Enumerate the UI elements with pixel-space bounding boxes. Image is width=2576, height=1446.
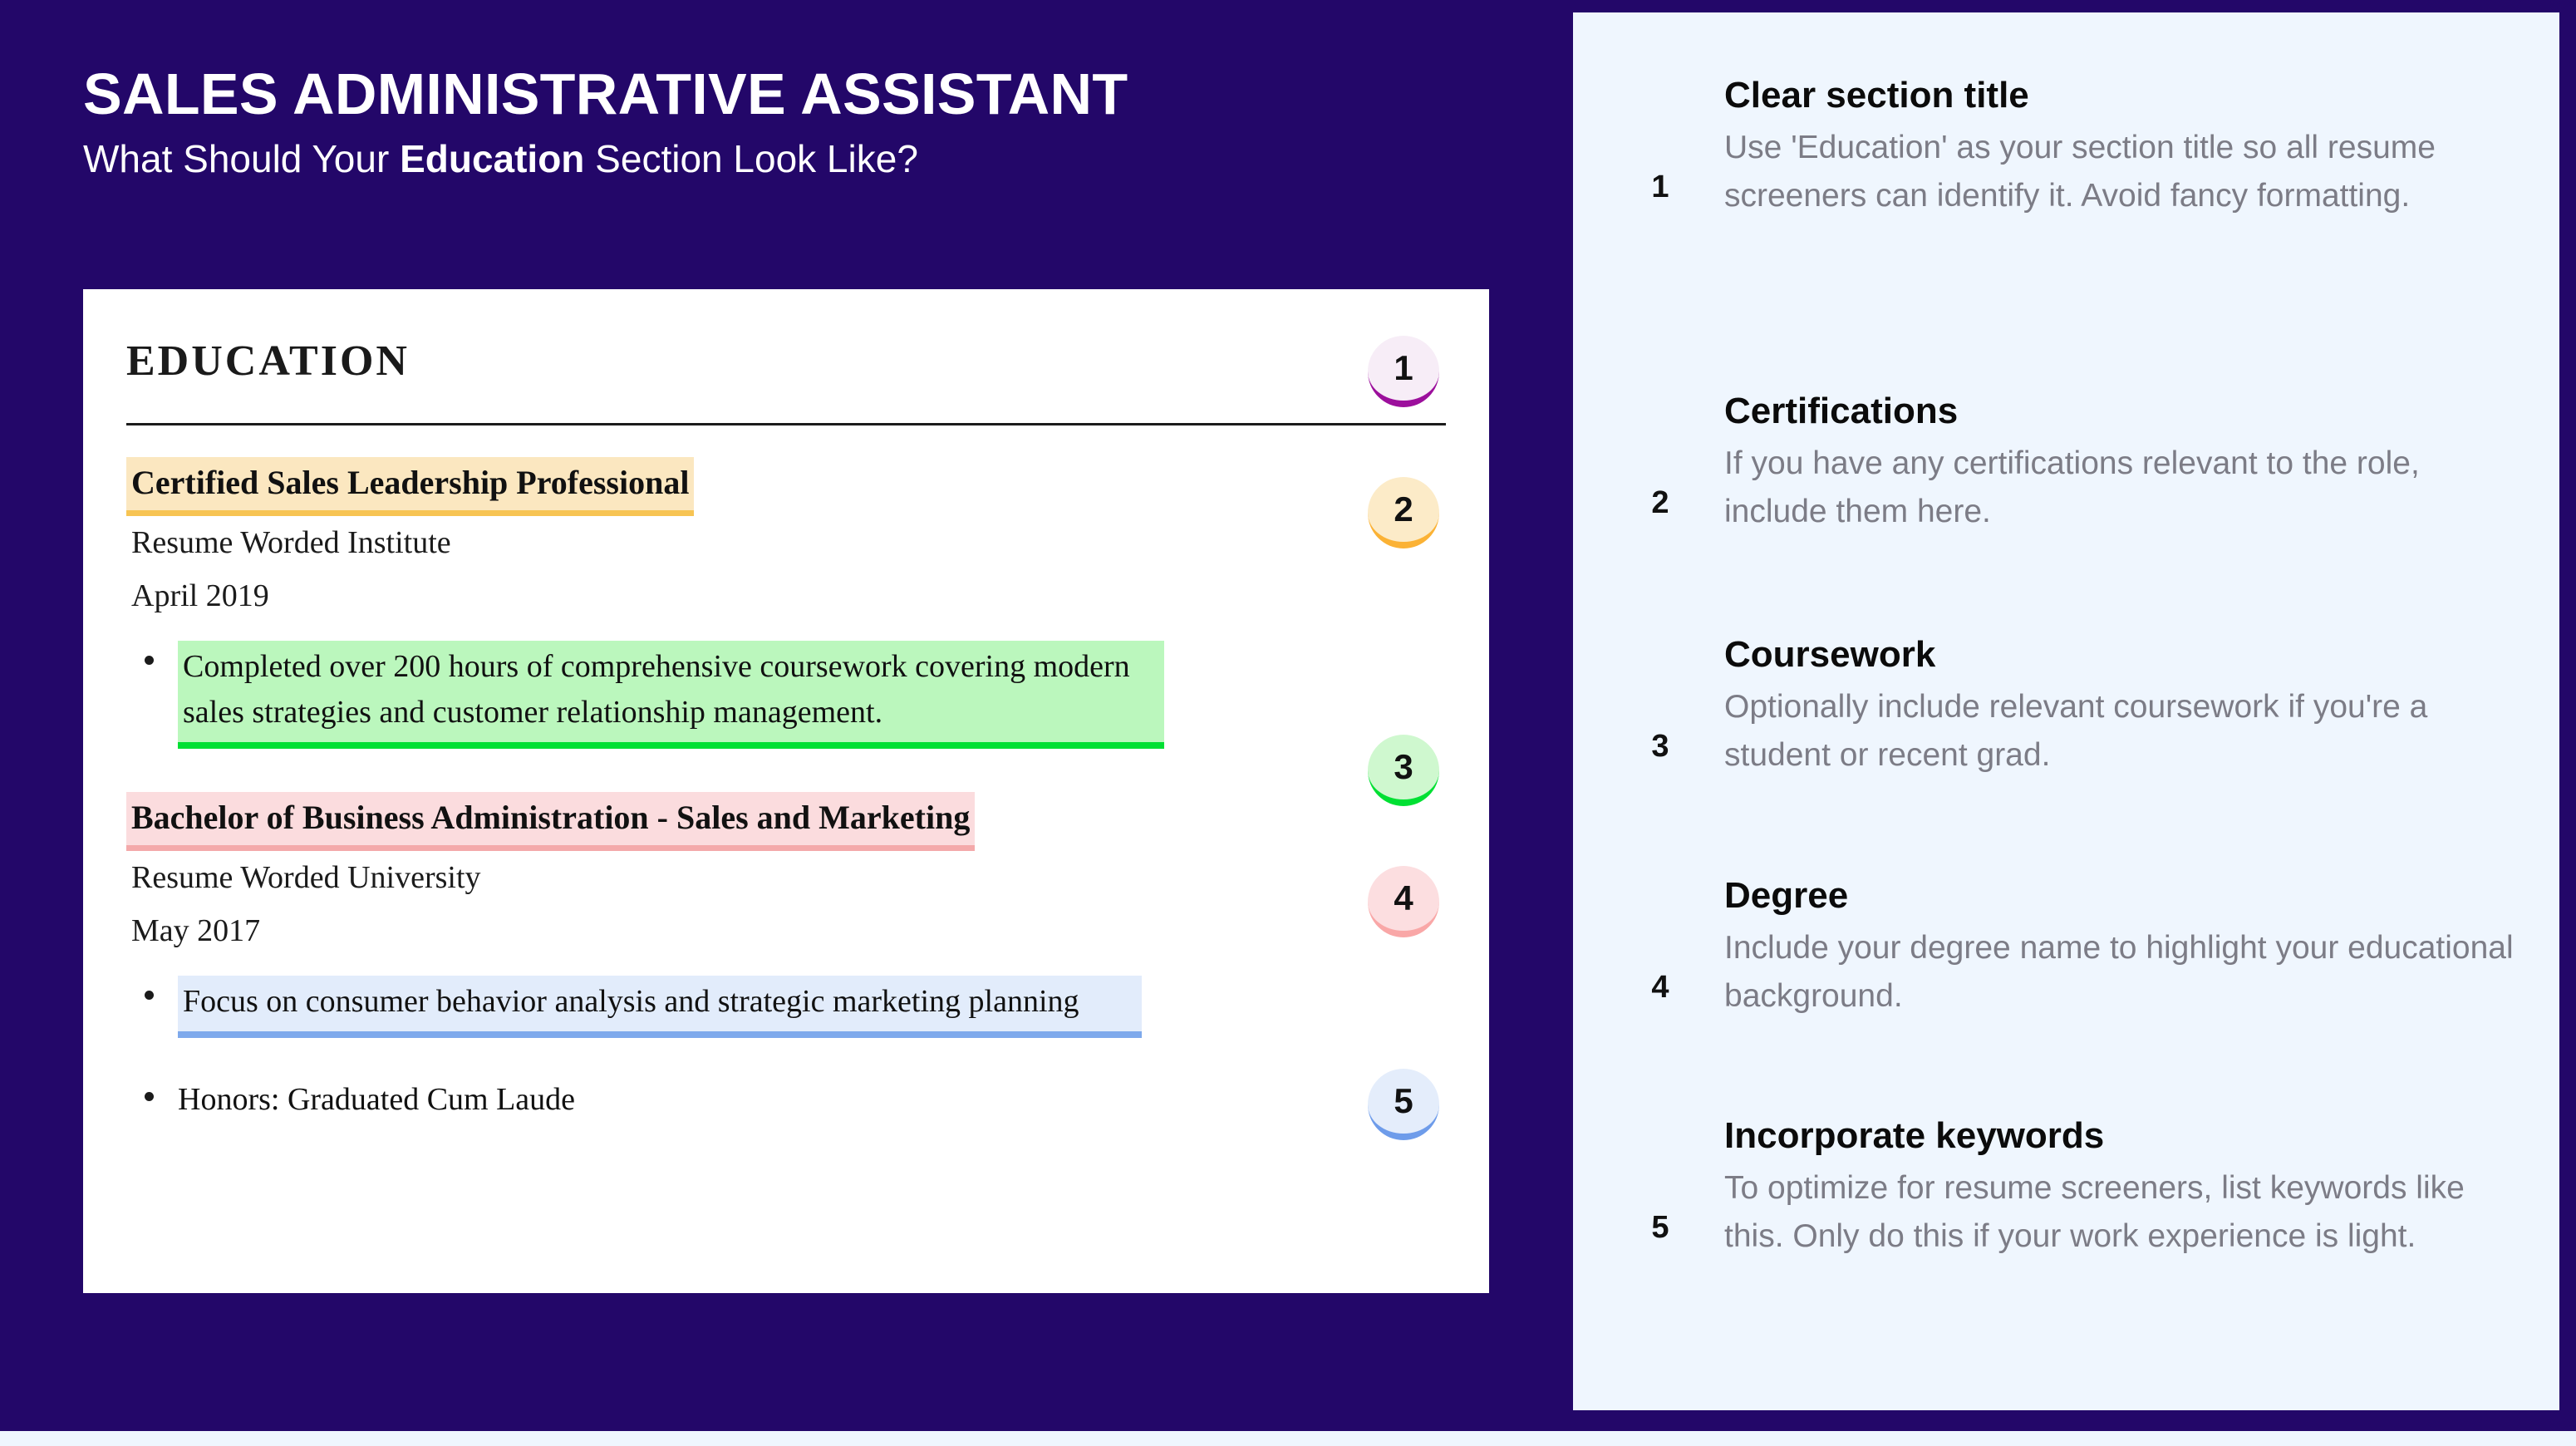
education-entry: Bachelor of Business Administration - Sa… <box>126 792 1446 1122</box>
bullet-dot-icon <box>145 656 154 665</box>
tip-badge-3[interactable]: 3 <box>1627 713 1694 780</box>
subtitle-emphasis: Education <box>400 137 584 180</box>
tip-badge-1[interactable]: 1 <box>1627 154 1694 220</box>
tip-description-2: If you have any certifications relevant … <box>1724 440 2514 535</box>
list-item: Honors: Graduated Cum Laude <box>126 1077 1446 1123</box>
tip-badge-2[interactable]: 2 <box>1627 470 1694 536</box>
resume-content: EDUCATION Certified Sales Leadership Pro… <box>126 337 1446 1123</box>
tip-badge-5[interactable]: 5 <box>1627 1194 1694 1261</box>
tip-description-1: Use 'Education' as your section title so… <box>1724 124 2514 219</box>
education-entry: Certified Sales Leadership Professional … <box>126 457 1446 749</box>
resume-marker-2[interactable]: 2 <box>1368 477 1439 548</box>
resume-marker-4[interactable]: 4 <box>1368 866 1439 937</box>
page-subtitle: What Should Your Education Section Look … <box>83 138 1512 181</box>
tip-title-3: Coursework <box>1724 634 2514 675</box>
tip-title-1: Clear section title <box>1724 75 2514 116</box>
bullet-text-honors: Honors: Graduated Cum Laude <box>178 1082 575 1117</box>
tip-body-3: Coursework Optionally include relevant c… <box>1724 634 2514 780</box>
bullet-dot-icon <box>145 991 154 1000</box>
entry-bullet-list: Focus on consumer behavior analysis and … <box>126 976 1446 1122</box>
list-item: Completed over 200 hours of comprehensiv… <box>126 641 1446 749</box>
tip-body-2: Certifications If you have any certifica… <box>1724 391 2514 536</box>
infographic-root: SALES ADMINISTRATIVE ASSISTANT What Shou… <box>0 0 2576 1446</box>
header: SALES ADMINISTRATIVE ASSISTANT What Shou… <box>83 65 1512 181</box>
tip-description-4: Include your degree name to highlight yo… <box>1724 924 2514 1020</box>
tip-body-5: Incorporate keywords To optimize for res… <box>1724 1115 2514 1261</box>
page-title: SALES ADMINISTRATIVE ASSISTANT <box>83 65 1512 123</box>
resume-marker-3[interactable]: 3 <box>1368 735 1439 806</box>
bullet-text-keywords: Focus on consumer behavior analysis and … <box>178 976 1142 1038</box>
tip-description-3: Optionally include relevant coursework i… <box>1724 683 2514 779</box>
entry-title-degree: Bachelor of Business Administration - Sa… <box>126 792 975 845</box>
resume-marker-1[interactable]: 1 <box>1368 336 1439 407</box>
entry-title-wrap: Bachelor of Business Administration - Sa… <box>126 792 975 845</box>
entry-title-certification: Certified Sales Leadership Professional <box>126 457 694 510</box>
bullet-text-coursework: Completed over 200 hours of comprehensiv… <box>178 641 1164 749</box>
tips-panel: 1 Clear section title Use 'Education' as… <box>1573 12 2559 1410</box>
resume-section-heading: EDUCATION <box>126 337 1446 385</box>
section-divider <box>126 423 1446 425</box>
entry-date: May 2017 <box>126 912 1446 952</box>
tip-body-1: Clear section title Use 'Education' as y… <box>1724 75 2514 220</box>
resume-marker-5[interactable]: 5 <box>1368 1069 1439 1140</box>
entry-organization: Resume Worded University <box>126 858 1446 898</box>
tip-body-4: Degree Include your degree name to highl… <box>1724 875 2514 1021</box>
entry-bullet-list: Completed over 200 hours of comprehensiv… <box>126 641 1446 749</box>
subtitle-after: Section Look Like? <box>584 137 918 180</box>
subtitle-before: What Should Your <box>83 137 400 180</box>
tip-title-2: Certifications <box>1724 391 2514 431</box>
entry-title-wrap: Certified Sales Leadership Professional <box>126 457 694 510</box>
tip-title-4: Degree <box>1724 875 2514 916</box>
tip-title-5: Incorporate keywords <box>1724 1115 2514 1156</box>
bullet-dot-icon <box>145 1092 154 1101</box>
resume-preview-card: EDUCATION Certified Sales Leadership Pro… <box>83 289 1489 1293</box>
entry-organization: Resume Worded Institute <box>126 524 1446 563</box>
tip-badge-4[interactable]: 4 <box>1627 954 1694 1021</box>
entry-date: April 2019 <box>126 577 1446 617</box>
tip-description-5: To optimize for resume screeners, list k… <box>1724 1164 2514 1260</box>
list-item: Focus on consumer behavior analysis and … <box>126 976 1446 1051</box>
